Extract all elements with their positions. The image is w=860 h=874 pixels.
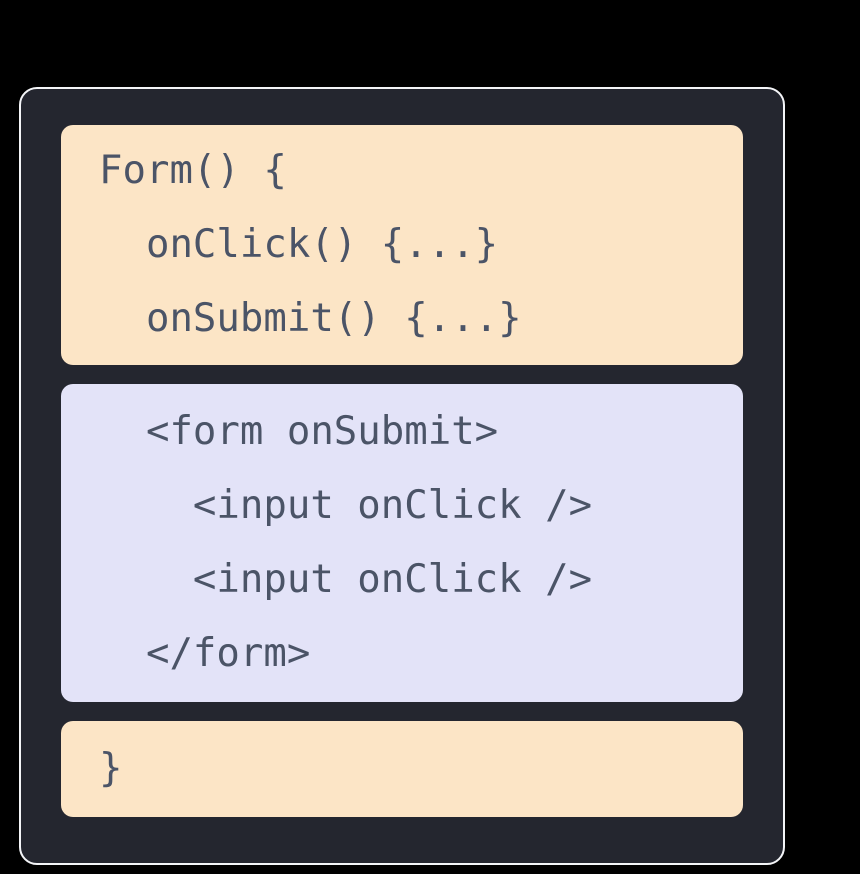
code-line: }	[99, 737, 705, 801]
code-line: <form onSubmit>	[99, 395, 705, 469]
component-function-open-panel: Form() { onClick() {...} onSubmit() {...…	[61, 125, 743, 365]
code-line: onClick() {...}	[99, 208, 705, 282]
markup-jsx-panel: <form onSubmit> <input onClick /> <input…	[61, 384, 743, 702]
code-diagram-card: Form() { onClick() {...} onSubmit() {...…	[19, 87, 785, 865]
component-function-close-panel: }	[61, 721, 743, 817]
code-line: <input onClick />	[99, 543, 705, 617]
code-line: Form() {	[99, 134, 705, 208]
code-line: onSubmit() {...}	[99, 282, 705, 356]
code-line: <input onClick />	[99, 469, 705, 543]
code-line: </form>	[99, 617, 705, 691]
